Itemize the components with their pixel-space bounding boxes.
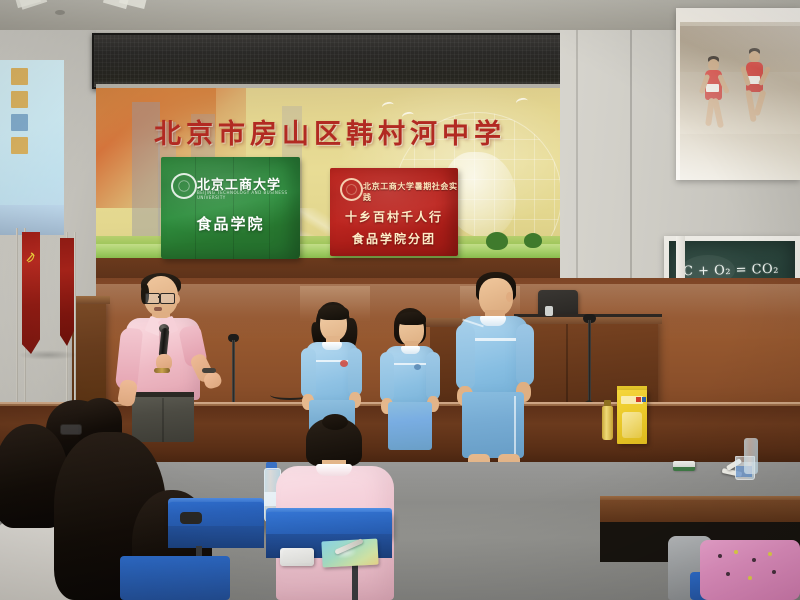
- green-banner-college: 食品学院: [161, 213, 300, 234]
- green-banner: 北京工商大学 BEIJING TECHNOLOGY AND BUSINESS U…: [161, 157, 300, 259]
- student-3-shorts-stripe: [514, 396, 516, 454]
- red-banner-line1: 北京工商大学暑期社会实践: [363, 181, 458, 203]
- photo-scene: 北京市房山区韩村河中学 北京工商大学 BEIJING TECHNOLOGY AN…: [0, 0, 800, 600]
- party-flag: [22, 232, 40, 354]
- folding-desk-side: [168, 526, 264, 548]
- eyeglasses-icon: [160, 293, 175, 304]
- presenter-belt: [132, 392, 194, 397]
- blackboard-eraser-felt: [673, 467, 695, 471]
- smartphone-screen[interactable]: [283, 550, 311, 563]
- backdrop-bird-icon: [381, 101, 394, 111]
- presenter: [116, 276, 234, 438]
- red-banner-line2: 十乡百村千人行: [330, 208, 458, 225]
- eyeglasses-bridge: [158, 296, 161, 298]
- student-1-collar: [322, 342, 342, 350]
- side-proj-glyph: [11, 114, 28, 131]
- student-1-right-arm: [348, 348, 362, 396]
- practice-team-shirt-collar: [316, 464, 352, 476]
- desk-clip: [180, 512, 202, 524]
- oil-box-artwork: [622, 412, 642, 438]
- water-bottle: [744, 438, 758, 474]
- podium-seam: [566, 324, 568, 414]
- student-1-left-arm: [301, 348, 316, 398]
- backdrop-tree: [486, 232, 508, 250]
- student-2-collar: [401, 346, 420, 354]
- projection-glare: [676, 8, 800, 180]
- green-banner-university-en: BEIJING TECHNOLOGY AND BUSINESS UNIVERSI…: [197, 190, 300, 200]
- microphone-stand-pole: [588, 320, 591, 408]
- oil-box-red-mark: [636, 397, 641, 402]
- back-desk: [600, 500, 800, 524]
- presenter-bracelet: [154, 368, 170, 373]
- student-1-bangs: [318, 305, 349, 320]
- smartphone[interactable]: [280, 548, 314, 566]
- party-flag: [60, 238, 74, 346]
- student-2-right-arm: [426, 352, 440, 400]
- backdrop-tree: [524, 233, 542, 248]
- cooking-oil-bottle: [602, 406, 613, 440]
- presenter-mouth: [154, 307, 162, 311]
- eyeglasses-icon: [145, 293, 160, 304]
- backdrop-bird-icon: [515, 97, 528, 107]
- side-proj-glyph: [11, 68, 28, 85]
- student-3-left-arm: [456, 324, 475, 390]
- side-projection-text: [4, 68, 34, 163]
- student-2-left-arm: [380, 352, 394, 402]
- side-proj-glyph: [11, 137, 28, 154]
- side-proj-glyph: [11, 91, 28, 108]
- presenter-wristwatch: [202, 368, 216, 373]
- folding-desk[interactable]: [120, 556, 230, 600]
- backdrop-headline: 北京市房山区韩村河中学: [96, 112, 564, 151]
- student-1-shirt-logo: [340, 360, 348, 367]
- student-3-ear: [506, 292, 513, 302]
- blackboard-equation-1: C + O₂ = CO₂: [683, 262, 779, 280]
- student-2-bangs: [397, 312, 426, 325]
- projector-screen: [676, 8, 800, 180]
- ceiling-vent: [55, 10, 65, 15]
- oil-box-blue-mark: [642, 397, 646, 402]
- practice-member-hair-bun: [322, 414, 348, 430]
- university-logo-icon: [171, 173, 197, 199]
- hammer-sickle-icon: [26, 252, 36, 264]
- side-projection-floor: [0, 205, 64, 235]
- student-3-right-arm: [516, 324, 534, 386]
- audience-eyeglasses-icon: [60, 424, 82, 435]
- university-seal-icon: [340, 178, 363, 201]
- red-banner: 北京工商大学暑期社会实践 十乡百村千人行 食品学院分团: [330, 168, 458, 256]
- presenter-trouser-seam: [162, 398, 164, 442]
- pink-backpack: [700, 540, 800, 600]
- red-banner-line3: 食品学院分团: [330, 230, 458, 247]
- flag-shadow: [18, 350, 78, 360]
- podium-small-object: [545, 306, 553, 316]
- student-2-shirt-logo: [414, 364, 421, 370]
